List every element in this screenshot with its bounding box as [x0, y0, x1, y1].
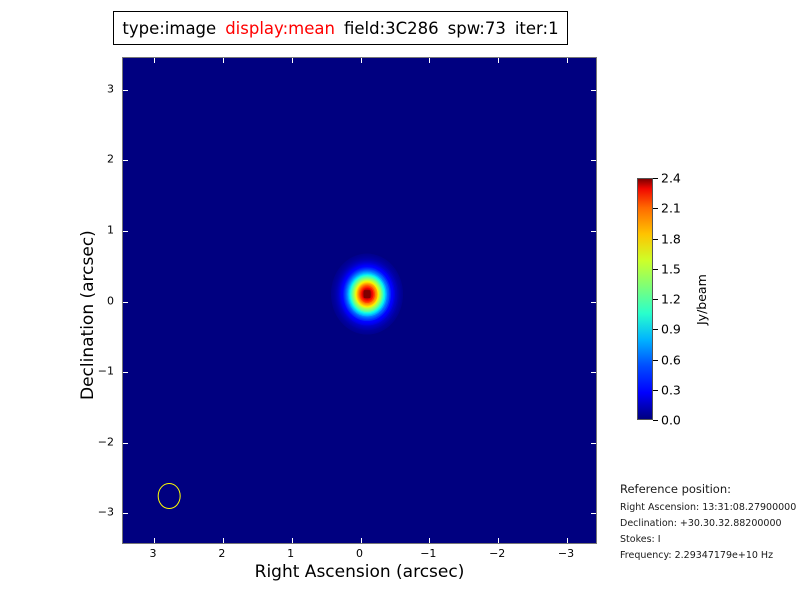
y-tick-label: −3: [92, 506, 114, 519]
y-tick-mark: [123, 231, 128, 232]
x-tick-label: 3: [149, 547, 156, 560]
x-tick-mark: [498, 538, 499, 543]
x-tick-label: −2: [489, 547, 505, 560]
y-tick-mark: [123, 90, 128, 91]
title-item: display:mean: [225, 19, 335, 38]
x-tick-mark: [361, 58, 362, 63]
y-tick-label: 1: [92, 223, 114, 236]
x-tick-mark: [498, 58, 499, 63]
colorbar-tick-label: 0.6: [661, 352, 681, 367]
y-tick-label: −2: [92, 435, 114, 448]
y-tick-mark: [591, 231, 596, 232]
x-tick-mark: [154, 58, 155, 63]
x-tick-label: −3: [558, 547, 574, 560]
title-item: field:3C286: [344, 19, 439, 38]
metadata-line: Declination: +30.30.32.88200000: [620, 518, 800, 529]
x-tick-mark: [154, 538, 155, 543]
y-tick-mark: [123, 302, 128, 303]
colorbar-tick-label: 1.8: [661, 231, 681, 246]
x-tick-label: 0: [356, 547, 363, 560]
colorbar-tick-label: 2.4: [661, 171, 681, 186]
colorbar-tick-mark: [653, 269, 658, 270]
y-tick-mark: [591, 90, 596, 91]
colorbar-tick-label: 0.0: [661, 413, 681, 428]
colorbar-tick-mark: [653, 208, 658, 209]
title-item: spw:73: [448, 19, 506, 38]
x-tick-mark: [292, 58, 293, 63]
x-tick-mark: [567, 538, 568, 543]
y-tick-label: 0: [92, 294, 114, 307]
colorbar-tick-mark: [653, 420, 658, 421]
reference-position-lines: Right Ascension: 13:31:08.27900000Declin…: [620, 502, 800, 561]
title-item: iter:1: [515, 19, 559, 38]
y-tick-mark: [123, 372, 128, 373]
y-tick-label: −1: [92, 365, 114, 378]
colorbar-tick-mark: [653, 178, 658, 179]
x-tick-mark: [361, 538, 362, 543]
x-tick-mark: [429, 538, 430, 543]
reference-position-heading: Reference position:: [620, 482, 800, 496]
colorbar-tick-label: 1.2: [661, 292, 681, 307]
image-info-title-text: type:imagedisplay:meanfield:3C286spw:73i…: [122, 19, 558, 38]
y-tick-label: 2: [92, 153, 114, 166]
y-tick-mark: [123, 513, 128, 514]
y-tick-mark: [591, 443, 596, 444]
y-tick-label: 3: [92, 82, 114, 95]
y-tick-mark: [591, 302, 596, 303]
metadata-line: Stokes: I: [620, 534, 800, 545]
title-item: type:image: [122, 19, 216, 38]
colorbar-unit-label: Jy/beam: [694, 274, 709, 325]
x-tick-mark: [567, 58, 568, 63]
x-tick-mark: [429, 58, 430, 63]
sky-image-plot-area[interactable]: [122, 57, 597, 544]
source-peak-3c286: [364, 291, 371, 299]
y-tick-mark: [123, 443, 128, 444]
reference-position-panel: Reference position: Right Ascension: 13:…: [620, 482, 800, 566]
x-tick-mark: [223, 58, 224, 63]
x-tick-label: −1: [420, 547, 436, 560]
restoring-beam-icon: [158, 483, 181, 509]
colorbar-tick-mark: [653, 390, 658, 391]
x-tick-label: 1: [287, 547, 294, 560]
colorbar-tick-mark: [653, 299, 658, 300]
colorbar-tick-label: 0.3: [661, 382, 681, 397]
y-tick-mark: [123, 160, 128, 161]
y-tick-mark: [591, 372, 596, 373]
image-viewer-canvas: type:imagedisplay:meanfield:3C286spw:73i…: [0, 0, 800, 600]
x-axis-title: Right Ascension (arcsec): [122, 562, 597, 582]
colorbar-gradient[interactable]: [637, 178, 653, 420]
colorbar-tick-label: 2.1: [661, 201, 681, 216]
x-tick-mark: [292, 538, 293, 543]
x-tick-mark: [223, 538, 224, 543]
colorbar-tick-label: 1.5: [661, 261, 681, 276]
metadata-line: Right Ascension: 13:31:08.27900000: [620, 502, 800, 513]
y-tick-mark: [591, 513, 596, 514]
colorbar-tick-mark: [653, 360, 658, 361]
colorbar-tick-mark: [653, 329, 658, 330]
colorbar-tick-mark: [653, 239, 658, 240]
x-tick-label: 2: [218, 547, 225, 560]
image-info-title-box: type:imagedisplay:meanfield:3C286spw:73i…: [113, 11, 568, 45]
y-tick-mark: [591, 160, 596, 161]
metadata-line: Frequency: 2.29347179e+10 Hz: [620, 550, 800, 561]
colorbar-tick-label: 0.9: [661, 322, 681, 337]
